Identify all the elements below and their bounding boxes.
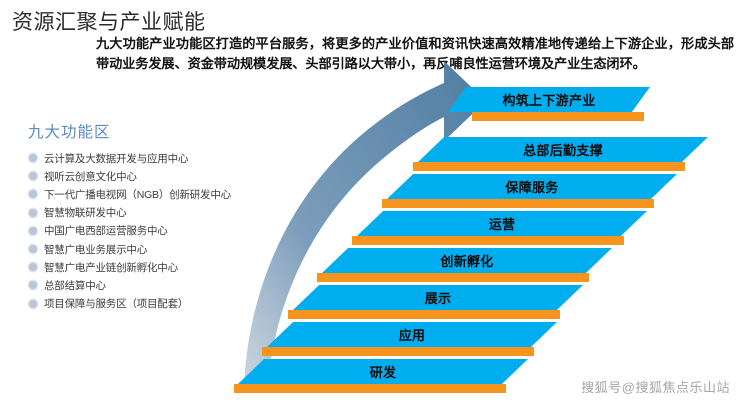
sidebar-item-label: 下一代广播电视网（NGB）创新研发中心 — [44, 187, 231, 202]
sidebar-item-smart-iot-rnd[interactable]: 智慧物联研发中心 — [28, 204, 228, 222]
nine-function-zones-panel: 九大功能区 云计算及大数据开发与应用中心 视听云创意文化中心 下一代广播电视网（… — [28, 120, 228, 313]
sidebar-item-label: 项目保障与服务区（项目配套） — [44, 296, 188, 311]
sidebar-item-label: 云计算及大数据开发与应用中心 — [44, 151, 188, 166]
sidebar-item-hq-settlement[interactable]: 总部结算中心 — [28, 276, 228, 294]
circle-bullet-icon — [29, 300, 37, 308]
step-riser — [472, 112, 644, 121]
watermark: 搜狐号@搜狐焦点乐山站 — [581, 377, 730, 396]
sidebar-item-label: 中国广电西部运营服务中心 — [44, 223, 168, 238]
sidebar-item-label: 智慧物联研发中心 — [44, 205, 126, 220]
sidebar-item-cloud-bigdata[interactable]: 云计算及大数据开发与应用中心 — [28, 149, 228, 167]
sidebar-item-project-support-zone[interactable]: 项目保障与服务区（项目配套） — [28, 295, 228, 313]
circle-bullet-icon — [29, 154, 37, 162]
sidebar-item-label: 视听云创意文化中心 — [44, 169, 137, 184]
circle-bullet-icon — [29, 245, 37, 253]
page-title: 资源汇聚与产业赋能 — [12, 6, 206, 36]
curved-growth-arrow-icon — [230, 55, 490, 395]
sidebar-item-label: 总部结算中心 — [44, 278, 106, 293]
sidebar-heading: 九大功能区 — [28, 120, 228, 142]
sidebar-item-west-ops-service[interactable]: 中国广电西部运营服务中心 — [28, 222, 228, 240]
sidebar-item-label: 智慧广电产业链创新孵化中心 — [44, 260, 178, 275]
circle-bullet-icon — [29, 190, 37, 198]
circle-bullet-icon — [29, 263, 37, 271]
sidebar-item-label: 智慧广电业务展示中心 — [44, 242, 147, 257]
sidebar-item-av-cloud-creative[interactable]: 视听云创意文化中心 — [28, 167, 228, 185]
sidebar-item-industry-chain-incubation[interactable]: 智慧广电产业链创新孵化中心 — [28, 258, 228, 276]
circle-bullet-icon — [29, 227, 37, 235]
sidebar-item-ngb-rnd[interactable]: 下一代广播电视网（NGB）创新研发中心 — [28, 185, 228, 203]
circle-bullet-icon — [29, 281, 37, 289]
sidebar-item-smart-broadcast-showcase[interactable]: 智慧广电业务展示中心 — [28, 240, 228, 258]
circle-bullet-icon — [29, 209, 37, 217]
circle-bullet-icon — [29, 172, 37, 180]
